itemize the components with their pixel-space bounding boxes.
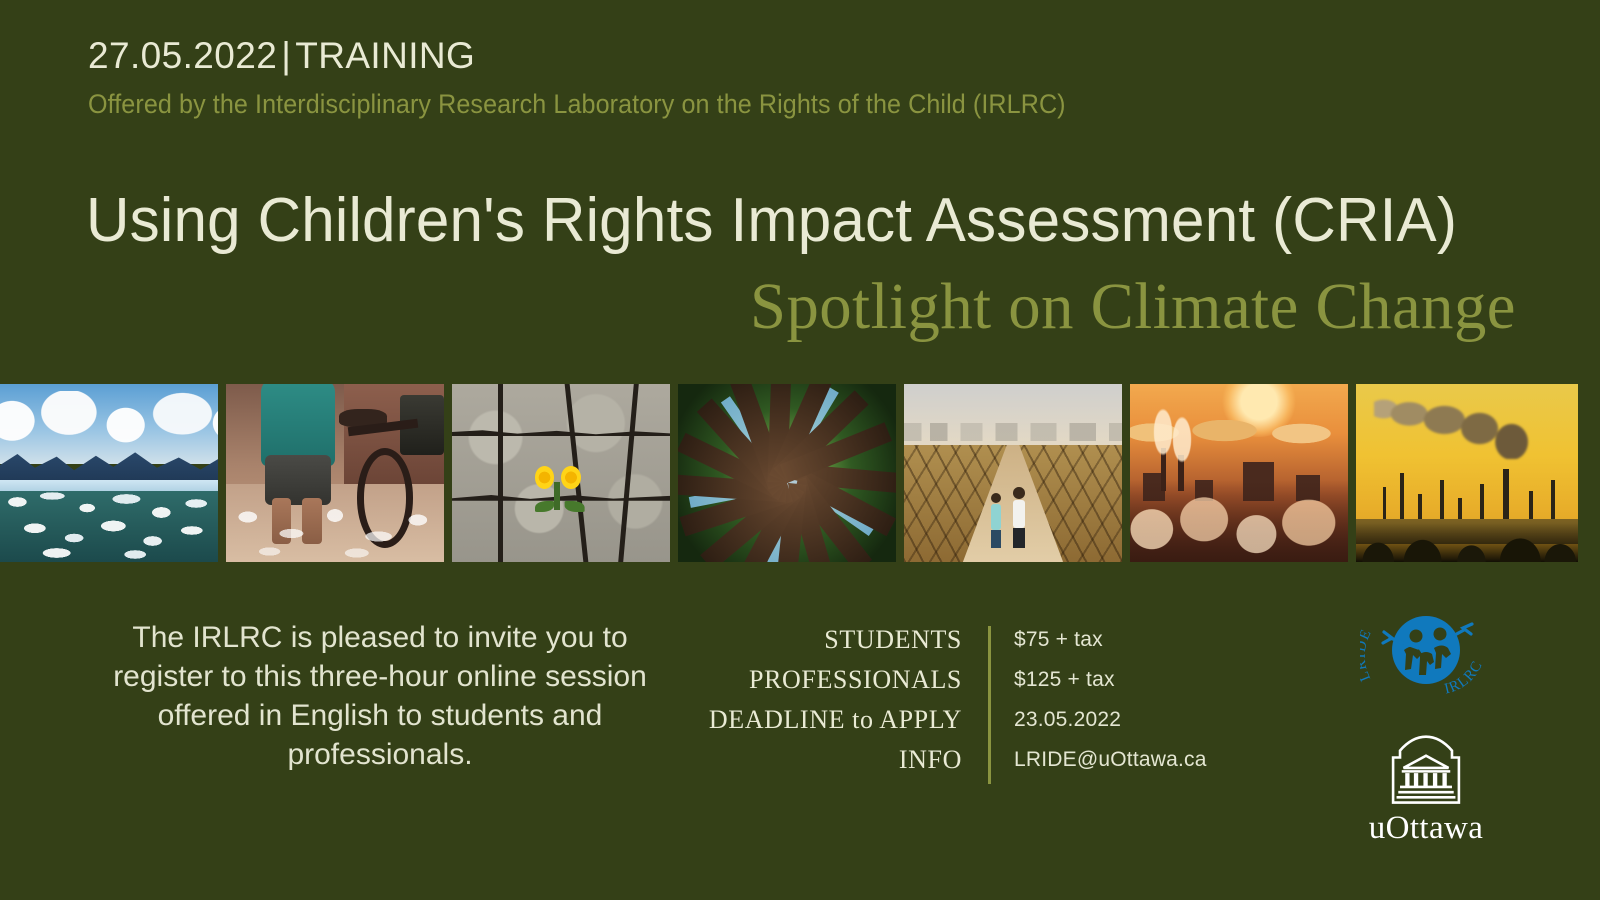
info-label-students: STUDENTS (700, 625, 988, 655)
offered-by-line: Offered by the Interdisciplinary Researc… (88, 89, 1066, 120)
glacier-icebergs-image (0, 384, 218, 562)
image-strip (0, 384, 1600, 562)
info-value-professionals: $125 + tax (988, 668, 1115, 692)
info-label-professionals: PROFESSIONALS (700, 665, 988, 695)
title-block: Using Children's Rights Impact Assessmen… (86, 186, 1516, 347)
cracked-earth-flowers-image (452, 384, 670, 562)
table-row: PROFESSIONALS $125 + tax (700, 660, 1260, 700)
info-table: STUDENTS $75 + tax PROFESSIONALS $125 + … (700, 620, 1260, 780)
irlrc-lride-logo: LRIDE IRLRC (1360, 598, 1492, 702)
uottawa-wordmark: uOttawa (1369, 812, 1484, 845)
logo-text-lride: LRIDE (1360, 627, 1375, 684)
event-date: 27.05.2022 (88, 35, 277, 76)
forest-canopy-image (678, 384, 896, 562)
children-desert-road-image (904, 384, 1122, 562)
table-row: INFO LRIDE@uOttawa.ca (700, 740, 1260, 780)
info-label-deadline: DEADLINE to APPLY (700, 705, 988, 735)
refinery-smokestack-image (1356, 384, 1578, 562)
poster-root: 27.05.2022|TRAINING Offered by the Inter… (0, 0, 1600, 900)
info-label-info: INFO (700, 745, 988, 775)
event-category: TRAINING (295, 35, 475, 76)
industrial-smog-sunset-image (1130, 384, 1348, 562)
table-row: STUDENTS $75 + tax (700, 620, 1260, 660)
header: 27.05.2022|TRAINING Offered by the Inter… (88, 36, 1139, 120)
meta-separator: | (277, 35, 295, 76)
event-meta-line: 27.05.2022|TRAINING (88, 36, 1139, 77)
info-value-email[interactable]: LRIDE@uOttawa.ca (988, 748, 1207, 772)
page-title: Using Children's Rights Impact Assessmen… (86, 186, 1473, 255)
info-value-deadline: 23.05.2022 (988, 708, 1121, 732)
flood-bicycle-image (226, 384, 444, 562)
uottawa-logo: uOttawa (1362, 735, 1490, 845)
invitation-text: The IRLRC is pleased to invite you to re… (80, 618, 680, 774)
info-value-students: $75 + tax (988, 628, 1103, 652)
tabaret-crest-icon (1386, 735, 1466, 806)
table-row: DEADLINE to APPLY 23.05.2022 (700, 700, 1260, 740)
page-subtitle: Spotlight on Climate Change (115, 267, 1516, 346)
irlrc-globe-icon: LRIDE IRLRC (1360, 598, 1492, 702)
